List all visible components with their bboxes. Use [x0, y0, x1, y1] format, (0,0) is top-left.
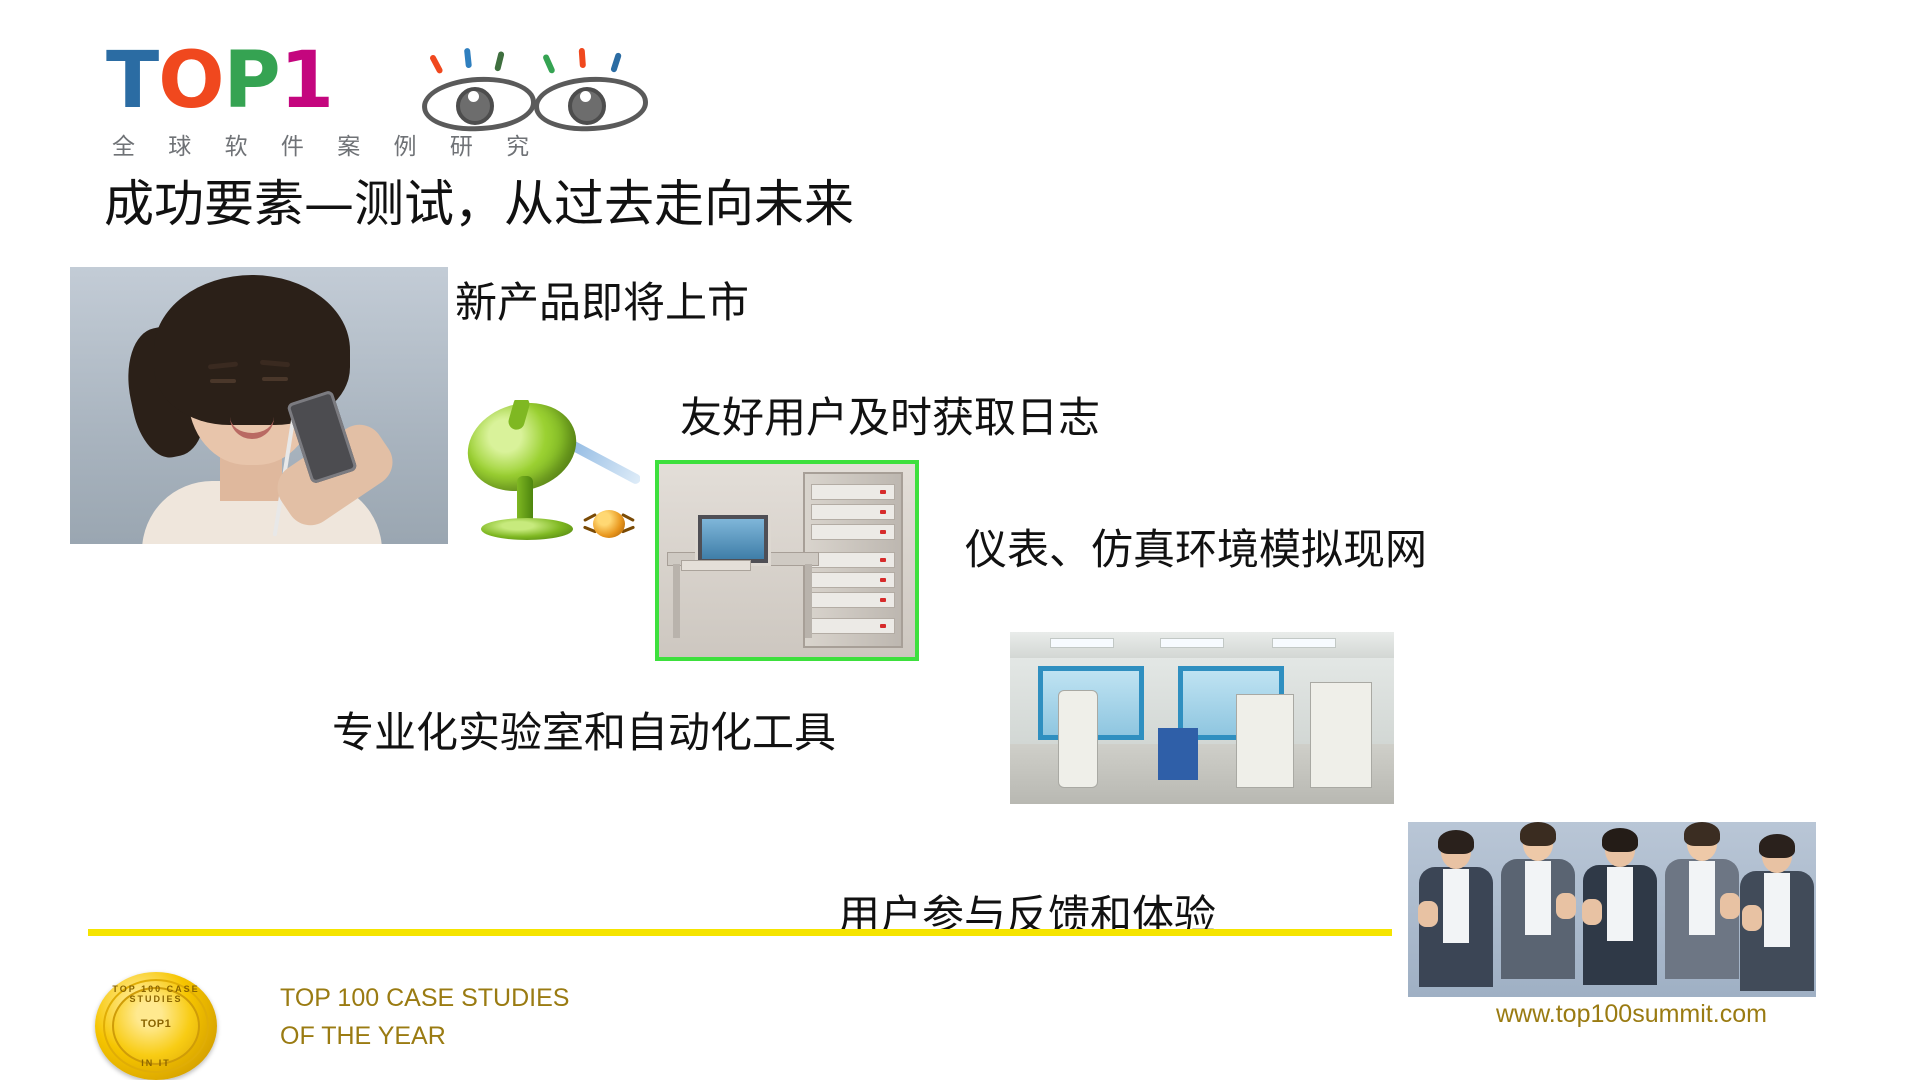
eye-glint-icon	[580, 91, 591, 102]
eye-shape	[262, 377, 288, 381]
eyelash-icon	[494, 51, 505, 72]
eye-glint-icon	[468, 91, 479, 102]
person-figure	[1660, 827, 1744, 997]
server-unit-shape	[811, 572, 895, 588]
ceiling-light-shape	[1272, 638, 1336, 648]
logo-tagline: 全 球 软 件 案 例 研 究	[112, 127, 542, 161]
person-figure	[1578, 833, 1662, 997]
desk-leg-shape	[805, 564, 812, 638]
eyelash-icon	[610, 52, 622, 73]
eyelash-icon	[464, 48, 472, 69]
logo-letter-t: T	[106, 45, 158, 117]
footer-website: www.top100summit.com	[1496, 1000, 1767, 1029]
eye-shape	[210, 379, 236, 383]
test-machine-shape	[1310, 682, 1372, 788]
satellite-dish-icon	[455, 400, 640, 560]
body-line-new-product: 新产品即将上市	[455, 280, 749, 326]
server-unit-shape	[811, 592, 895, 608]
business-people-photo	[1408, 822, 1816, 997]
server-rack-photo	[655, 460, 919, 661]
body-line-professional-lab: 专业化实验室和自动化工具	[332, 710, 836, 756]
person-figure	[1738, 839, 1816, 997]
person-figure	[1496, 827, 1580, 997]
top100-seal-logo: TOP 100 CASE STUDIES TOP1 IN IT	[95, 972, 217, 1080]
dish-neck-shape	[517, 476, 533, 524]
eye-right-icon	[534, 77, 638, 121]
footer-caption-line2: OF THE YEAR	[280, 1018, 569, 1056]
eyelash-icon	[542, 54, 556, 75]
presentation-slide: T O P 1 全 球 软 件 案 例 研 究 成功要素	[0, 0, 1919, 1079]
eyelash-icon	[429, 54, 444, 74]
top1-logo: T O P 1 全 球 软 件 案 例 研 究	[100, 45, 680, 170]
ceiling-light-shape	[1160, 638, 1224, 648]
monitor-shape	[695, 512, 771, 566]
desk-leg-shape	[673, 564, 680, 638]
ceiling-light-shape	[1050, 638, 1114, 648]
footer-caption-line1: TOP 100 CASE STUDIES	[280, 980, 569, 1018]
monitor-screen-shape	[702, 519, 764, 559]
server-unit-shape	[811, 552, 895, 568]
slide-title: 成功要素—测试，从过去走向未来	[104, 178, 854, 231]
server-unit-shape	[811, 524, 895, 540]
keyboard-shape	[681, 560, 751, 571]
logo-letter-o: O	[158, 45, 223, 117]
dish-base-shape	[481, 518, 573, 540]
bug-icon	[587, 504, 631, 544]
eyes-icon	[422, 51, 672, 123]
woman-with-phone-photo	[70, 267, 448, 544]
seal-top-text: TOP 100 CASE STUDIES	[95, 984, 217, 1004]
footer-caption: TOP 100 CASE STUDIES OF THE YEAR	[280, 980, 569, 1055]
logo-letter-one: 1	[280, 45, 333, 117]
test-machine-shape	[1236, 694, 1294, 788]
body-line-friendly-user-logs: 友好用户及时获取日志	[680, 395, 1100, 441]
footer-divider	[88, 929, 1392, 936]
body-line-instrument-simulation: 仪表、仿真环境模拟现网	[965, 527, 1427, 573]
laboratory-room-photo	[1010, 632, 1394, 804]
server-unit-shape	[811, 484, 895, 500]
bug-body-shape	[593, 510, 625, 538]
eye-left-icon	[422, 77, 526, 121]
server-unit-shape	[811, 618, 895, 634]
test-machine-shape	[1058, 690, 1098, 788]
server-unit-shape	[811, 504, 895, 520]
logo-letter-p: P	[224, 45, 280, 117]
seal-center-text: TOP1	[95, 1018, 217, 1030]
logo-wordmark: T O P 1	[106, 45, 333, 117]
eyelash-icon	[579, 48, 586, 68]
seal-bottom-text: IN IT	[95, 1058, 217, 1068]
person-figure	[1414, 835, 1498, 997]
equipment-box-shape	[1158, 728, 1198, 780]
